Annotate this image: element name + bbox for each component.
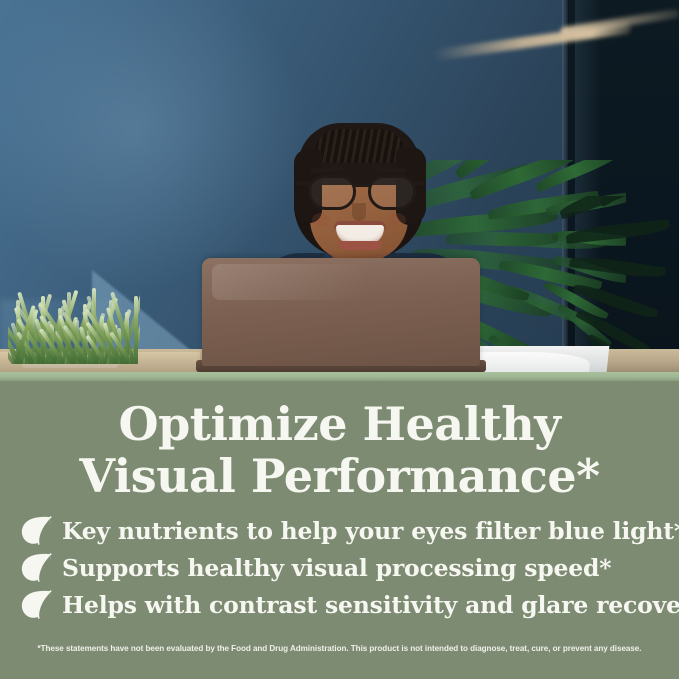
lens-left	[308, 175, 356, 210]
disclaimer-text: *These statements have not been evaluate…	[0, 644, 679, 653]
dark-palm-frond	[569, 254, 666, 280]
page-title: Optimize Healthy Visual Performance*	[0, 398, 679, 502]
leaf-icon	[19, 553, 53, 583]
benefits-list: Key nutrients to help your eyes filter b…	[0, 512, 679, 623]
grass-blade	[134, 296, 138, 364]
headline-line-2: Visual Performance*	[0, 450, 679, 502]
headline-line-1: Optimize Healthy	[119, 397, 561, 451]
leaf-icon	[19, 516, 53, 546]
eyeglasses	[306, 175, 414, 205]
lens-right	[368, 175, 416, 210]
cheek-right	[388, 213, 406, 227]
text-band: Optimize Healthy Visual Performance* Key…	[0, 372, 679, 679]
glasses-temple-right	[411, 182, 423, 185]
list-item-label: Supports healthy visual processing speed…	[62, 555, 611, 581]
hero-photo	[0, 0, 679, 372]
laptop-highlight	[212, 264, 362, 300]
glasses-temple-left	[297, 182, 309, 185]
list-item: Key nutrients to help your eyes filter b…	[0, 512, 679, 549]
dark-palm-frond	[597, 196, 679, 207]
dark-palm-frond	[565, 219, 670, 244]
glasses-bridge	[352, 184, 370, 187]
lower-lip	[338, 241, 382, 250]
hair-texture	[314, 129, 406, 163]
list-item-label: Helps with contrast sensitivity and glar…	[62, 592, 679, 618]
list-item: Helps with contrast sensitivity and glar…	[0, 586, 679, 623]
list-item-label: Key nutrients to help your eyes filter b…	[62, 518, 679, 544]
cheek-left	[312, 213, 330, 227]
product-benefit-banner: Optimize Healthy Visual Performance* Key…	[0, 0, 679, 679]
band-top-strip	[0, 372, 679, 381]
leaf-icon	[19, 590, 53, 620]
list-item: Supports healthy visual processing speed…	[0, 549, 679, 586]
nose	[352, 203, 366, 221]
grass-plant	[8, 288, 140, 364]
